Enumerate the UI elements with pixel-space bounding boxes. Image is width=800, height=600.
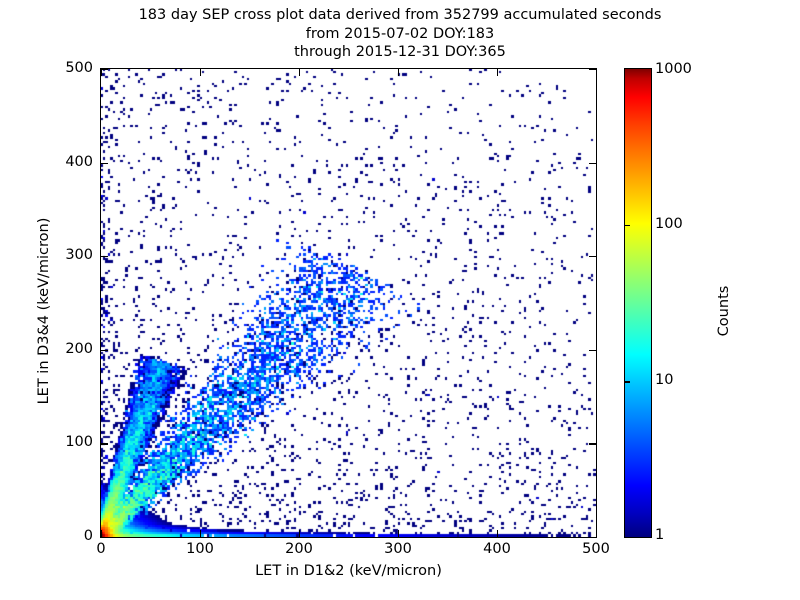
plot-area: [100, 68, 597, 538]
x-tick-label: 400: [462, 541, 532, 557]
x-tick: [596, 530, 597, 537]
colorbar-tick-label: 1: [655, 527, 664, 543]
colorbar-gradient: [624, 68, 652, 538]
x-axis-label: LET in D1&2 (keV/micron): [100, 563, 597, 579]
y-tick-label: 0: [33, 528, 93, 544]
x-tick-label: 100: [165, 541, 235, 557]
title-line-1: 183 day SEP cross plot data derived from…: [0, 6, 800, 25]
colorbar-tick: [624, 225, 630, 226]
title-line-3: through 2015-12-31 DOY:365: [0, 43, 800, 62]
y-tick: [101, 69, 108, 70]
colorbar-tick-label: 10: [655, 372, 673, 388]
y-axis-label: LET in D3&4 (keV/micron): [36, 181, 52, 441]
x-tick: [596, 69, 597, 76]
y-tick: [589, 256, 596, 257]
y-tick: [589, 537, 596, 538]
x-tick: [497, 69, 498, 76]
x-tick-label: 300: [363, 541, 433, 557]
x-tick-label: 500: [561, 541, 631, 557]
y-tick: [101, 443, 108, 444]
colorbar-tick-label: 100: [655, 216, 683, 232]
x-tick: [200, 530, 201, 537]
title-line-2: from 2015-07-02 DOY:183: [0, 25, 800, 44]
figure: 183 day SEP cross plot data derived from…: [0, 0, 800, 600]
x-tick: [101, 530, 102, 537]
y-tick: [101, 256, 108, 257]
x-tick: [299, 530, 300, 537]
y-tick: [101, 537, 108, 538]
colorbar-tick: [624, 381, 630, 382]
x-tick-label: 200: [264, 541, 334, 557]
y-tick: [101, 350, 108, 351]
x-tick: [497, 530, 498, 537]
x-tick: [398, 530, 399, 537]
x-tick: [398, 69, 399, 76]
colorbar-tick-label: 1000: [655, 61, 692, 77]
y-tick: [589, 163, 596, 164]
y-tick: [101, 163, 108, 164]
y-tick: [589, 69, 596, 70]
y-tick: [589, 443, 596, 444]
x-tick: [299, 69, 300, 76]
x-tick: [200, 69, 201, 76]
y-tick-label: 500: [33, 60, 93, 76]
colorbar-label: Counts: [716, 221, 732, 401]
y-tick: [589, 350, 596, 351]
colorbar: 1101001000: [624, 68, 652, 538]
y-tick-label: 400: [33, 154, 93, 170]
chart-title: 183 day SEP cross plot data derived from…: [0, 6, 800, 62]
scatter-heatmap-canvas: [101, 69, 596, 537]
